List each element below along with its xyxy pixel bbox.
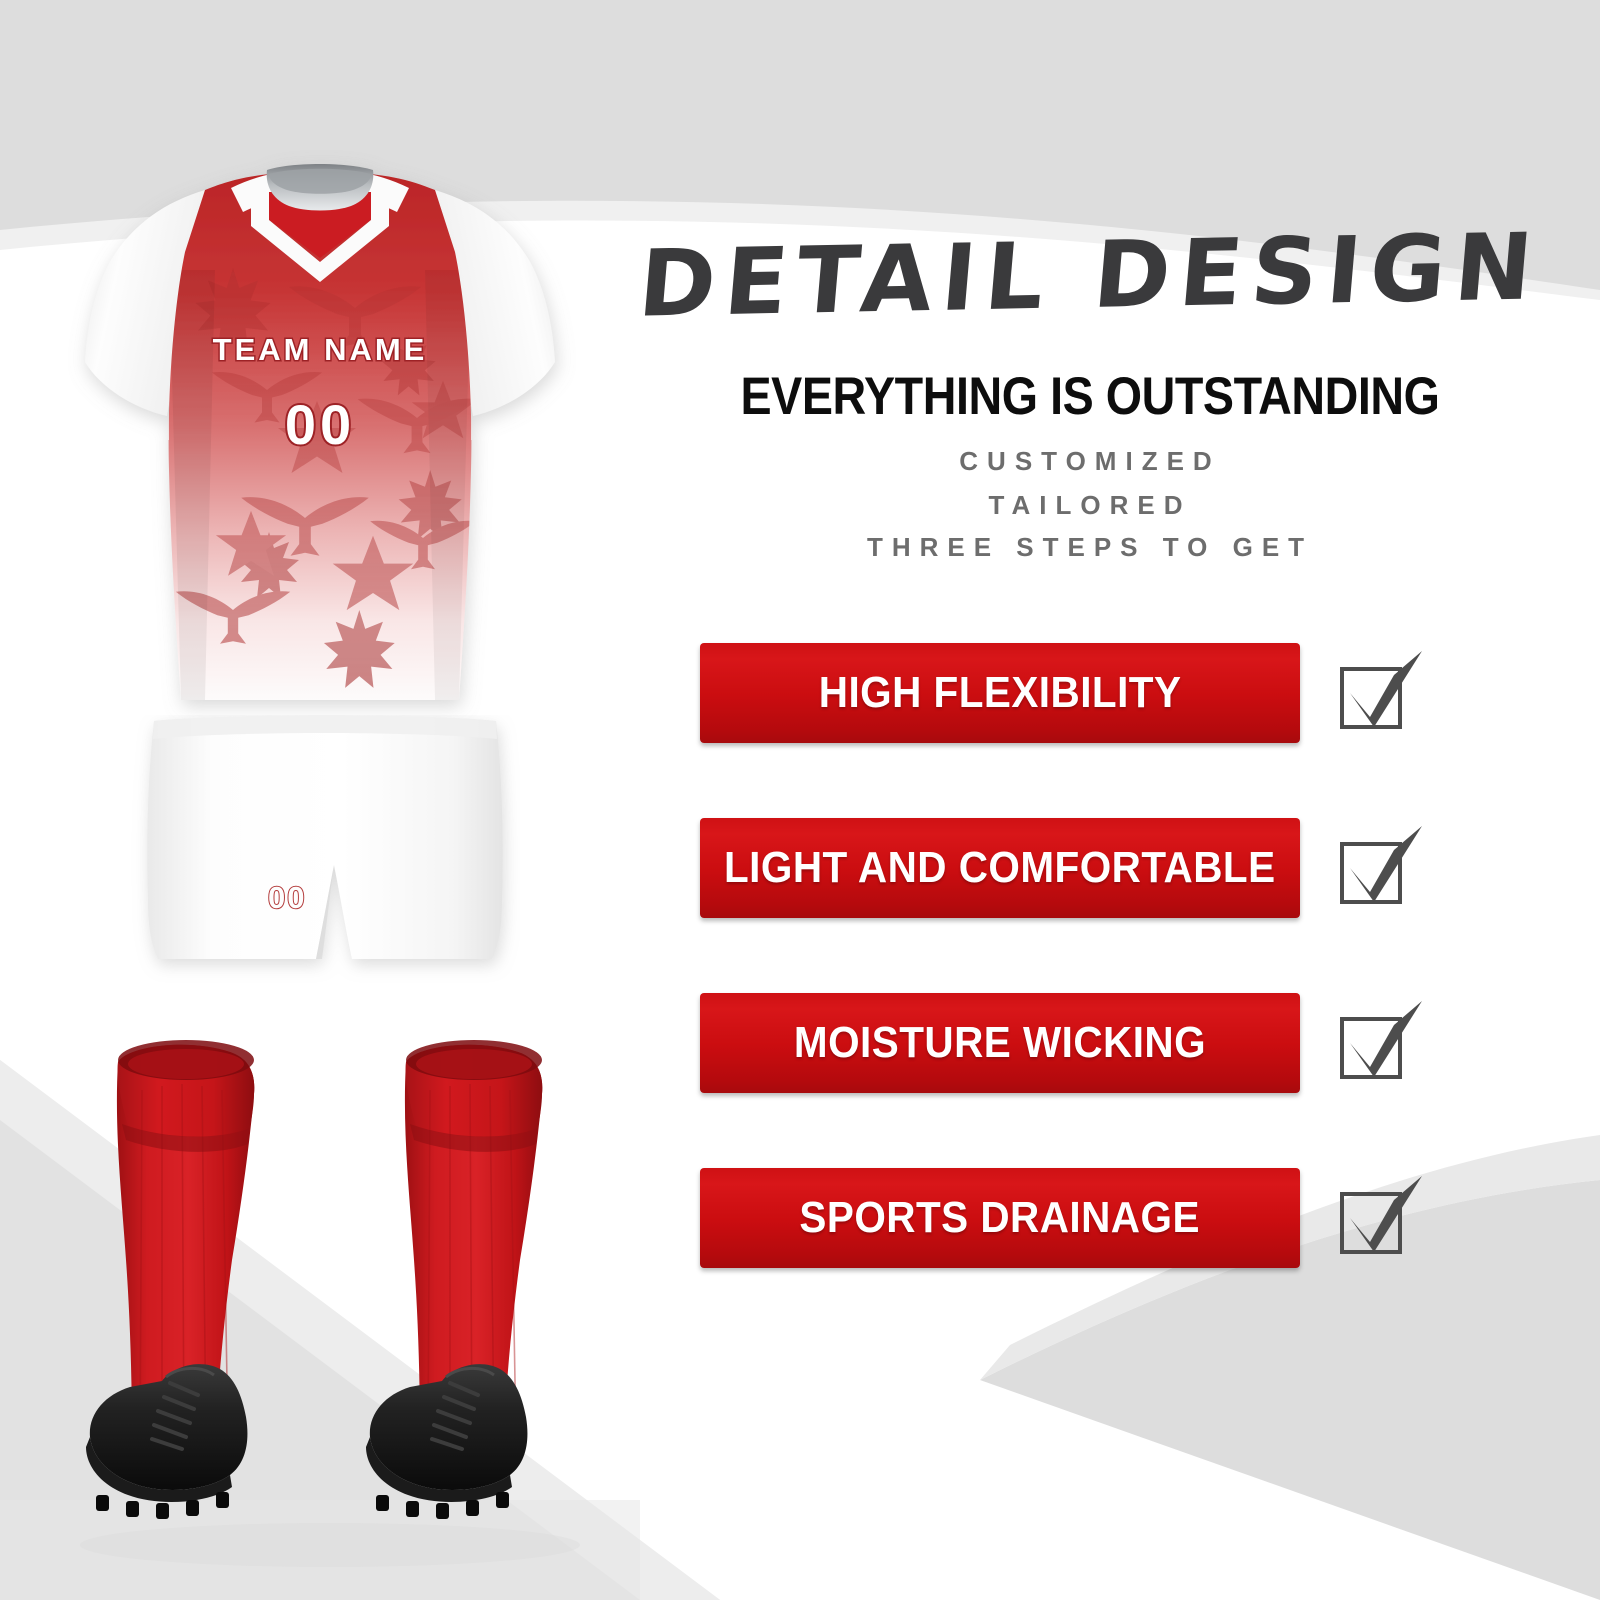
shoe-left	[86, 1364, 247, 1519]
jersey-team-name: TEAM NAME	[55, 332, 585, 368]
feature-item-moisture-wicking: MOISTURE WICKING	[700, 993, 1460, 1168]
page-title: DETAIL DESIGN	[595, 221, 1585, 332]
feature-list: HIGH FLEXIBILITY LIGHT AND COMFORTABLE	[700, 643, 1460, 1343]
feature-label: LIGHT AND COMFORTABLE	[724, 843, 1276, 893]
shoes-graphic	[70, 1355, 590, 1550]
feature-banner: SPORTS DRAINAGE	[700, 1168, 1300, 1268]
feature-item-sports-drainage: SPORTS DRAINAGE	[700, 1168, 1460, 1343]
shorts-number: 00	[268, 880, 306, 916]
feature-item-high-flexibility: HIGH FLEXIBILITY	[700, 643, 1460, 818]
checkbox-checked-icon	[1332, 649, 1424, 737]
shorts-graphic	[130, 715, 520, 990]
tagline-customized: CUSTOMIZED	[600, 448, 1580, 474]
shoe-right	[366, 1364, 527, 1519]
product-photo-column: TEAM NAME 00	[0, 0, 640, 1600]
page-subtitle: EVERYTHING IS OUTSTANDING	[659, 370, 1521, 423]
checkbox-checked-icon	[1332, 1174, 1424, 1262]
tagline-three-steps: THREE STEPS TO GET	[600, 534, 1580, 560]
feature-item-light-and-comfortable: LIGHT AND COMFORTABLE	[700, 818, 1460, 993]
checkbox-checked-icon	[1332, 999, 1424, 1087]
feature-label: SPORTS DRAINAGE	[800, 1193, 1201, 1243]
jersey-number: 00	[55, 392, 585, 457]
feature-label: MOISTURE WICKING	[794, 1018, 1206, 1068]
checkbox-checked-icon	[1332, 824, 1424, 912]
feature-banner: LIGHT AND COMFORTABLE	[700, 818, 1300, 918]
tagline-tailored: TAILORED	[600, 492, 1580, 518]
feature-banner: HIGH FLEXIBILITY	[700, 643, 1300, 743]
jersey-graphic: TEAM NAME 00	[55, 140, 585, 760]
marketing-copy-column: DETAIL DESIGN EVERYTHING IS OUTSTANDING …	[600, 0, 1600, 1600]
feature-label: HIGH FLEXIBILITY	[819, 668, 1182, 718]
feature-banner: MOISTURE WICKING	[700, 993, 1300, 1093]
poster-canvas: TEAM NAME 00	[0, 0, 1600, 1600]
